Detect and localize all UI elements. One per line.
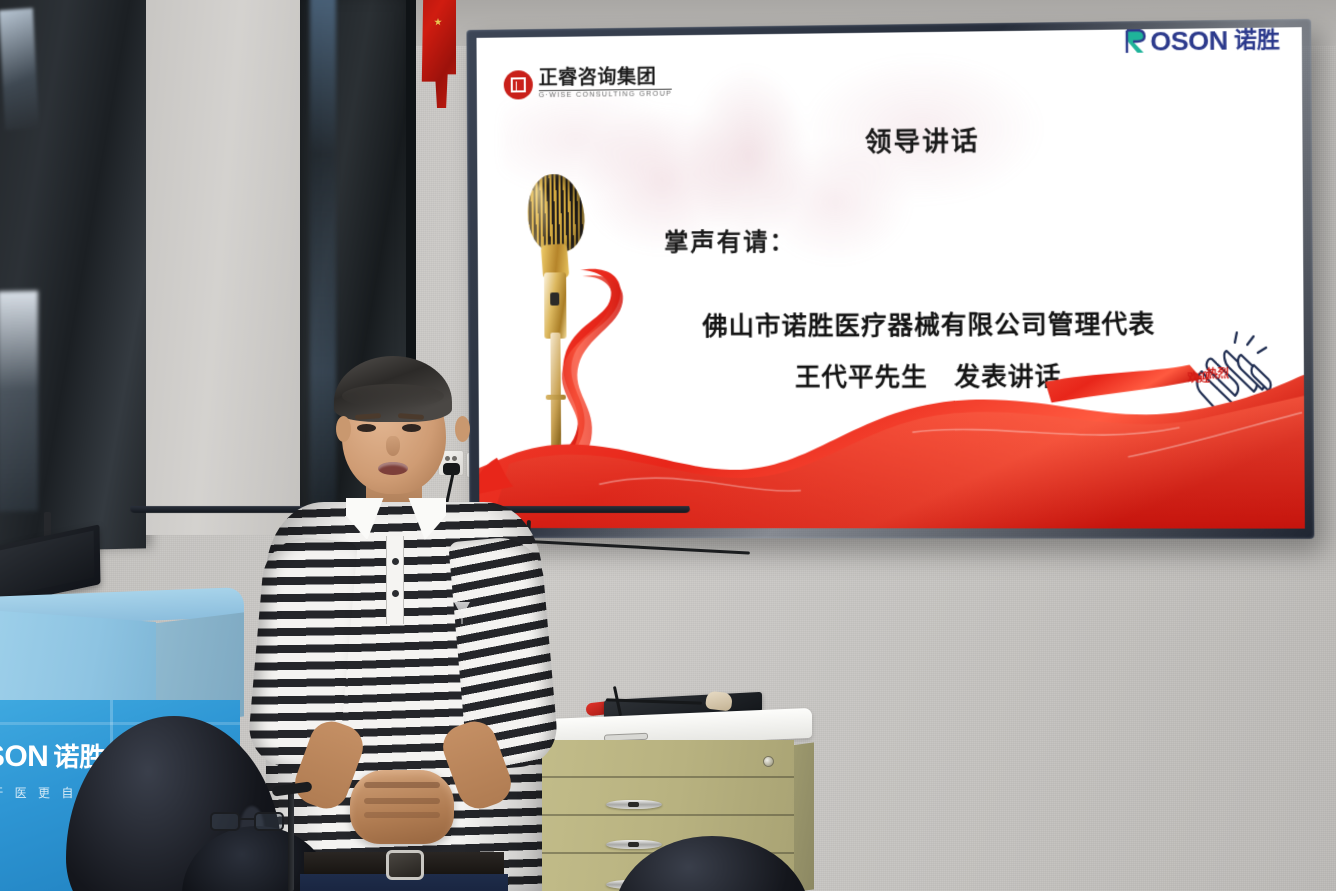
slide-title: 领导讲话: [477, 117, 1303, 163]
wall-mounted-television[interactable]: 正睿咨询集团 G·WISE CONSULTING GROUP: [466, 19, 1314, 539]
microphone-stem: [551, 333, 562, 498]
banner-wordmark: OSON: [0, 742, 48, 772]
roson-r-icon: [1125, 27, 1148, 56]
cabinet-lock-icon[interactable]: [763, 756, 774, 767]
roson-wordmark: OSON: [1150, 27, 1228, 54]
microphone-head: [524, 171, 589, 255]
seal-icon: [503, 70, 532, 99]
room-scene: 正睿咨询集团 G·WISE CONSULTING GROUP: [0, 0, 1336, 891]
clap-text-warm: 热烈: [1206, 369, 1229, 381]
gwise-logo-chinese: 正睿咨询集团: [538, 67, 672, 91]
presenter-eye: [402, 424, 421, 432]
presenter-mouth: [378, 462, 408, 475]
presentation-slide: 正睿咨询集团 G·WISE CONSULTING GROUP: [476, 27, 1304, 528]
drawer-seam: [524, 814, 794, 816]
drawer-seam: [524, 776, 794, 778]
presenter-placket: [386, 536, 404, 624]
presenter-nose: [386, 436, 400, 456]
beige-object-on-cabinet: [705, 690, 733, 711]
roson-logo: OSON 诺胜: [1125, 27, 1280, 56]
presenter: [258, 352, 548, 891]
roson-chinese: 诺胜: [1234, 28, 1280, 51]
shirt-button: [392, 590, 399, 597]
presenter-ear: [336, 416, 351, 442]
presenter-clasped-hands: [350, 770, 454, 844]
drawer-handle[interactable]: [606, 800, 662, 809]
foreground-mic-stand: [288, 790, 294, 891]
flag-star-icon: [434, 18, 442, 26]
drawer-handle[interactable]: [606, 840, 662, 849]
gwise-logo-english: G·WISE CONSULTING GROUP: [539, 91, 673, 100]
gwise-logo: 正睿咨询集团 G·WISE CONSULTING GROUP: [503, 67, 672, 100]
presenter-hair: [334, 356, 452, 422]
shirt-button: [392, 558, 399, 565]
panel-glare: [0, 8, 39, 130]
banner-tagline: 力 牙 医 更 自: [0, 784, 77, 801]
tv-screen[interactable]: 正睿咨询集团 G·WISE CONSULTING GROUP: [476, 27, 1304, 528]
slide-subtitle: 掌声有请：: [664, 222, 796, 258]
panel-glare-lower: [0, 291, 38, 512]
eyeglasses-icon: [210, 804, 284, 838]
belt-buckle: [386, 850, 424, 880]
dark-glass-wall-panel: [0, 0, 146, 552]
presenter-eye: [357, 424, 376, 432]
clapping-hands-icon: 欢迎 热烈: [1181, 328, 1277, 422]
presenter-ear: [455, 416, 470, 442]
tv-bezel: 正睿咨询集团 G·WISE CONSULTING GROUP: [466, 19, 1314, 539]
